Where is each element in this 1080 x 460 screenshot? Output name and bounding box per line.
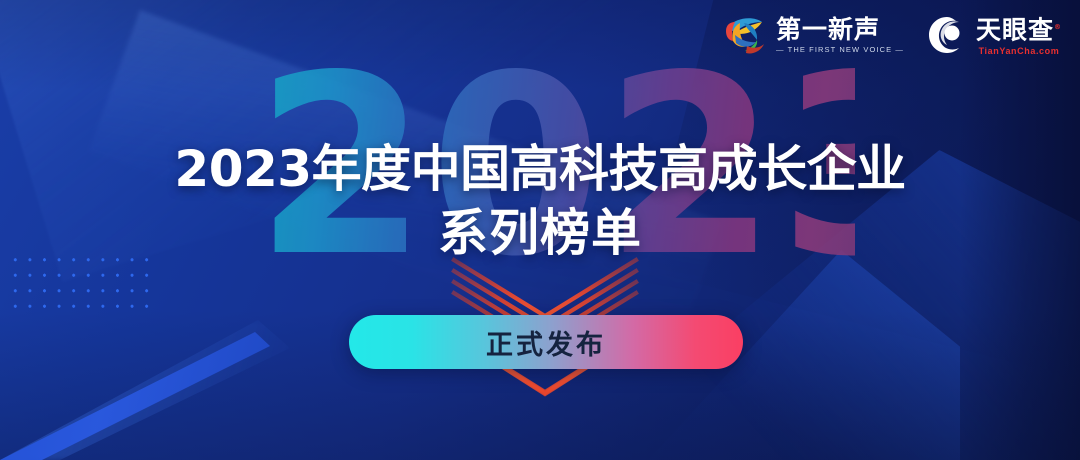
trademark-icon: ®: [1054, 23, 1062, 31]
logo-diyixinsheng-tagline: — THE FIRST NEW VOICE —: [776, 44, 904, 55]
eye-lens-logo-icon: [926, 14, 968, 56]
logo-tianyancha-tagline: TianYanCha.com: [976, 45, 1062, 57]
logo-tianyancha-name: 天眼查®: [976, 13, 1062, 44]
official-release-button[interactable]: 正式发布: [349, 315, 743, 369]
logo-bar: 第一新声 — THE FIRST NEW VOICE — 天眼查® TianYa…: [722, 13, 1062, 57]
headline-line-2: 系列榜单: [0, 202, 1080, 264]
headline-line-1: 2023年度中国高科技高成长企业: [0, 138, 1080, 200]
logo-tianyancha-text: 天眼查® TianYanCha.com: [976, 13, 1062, 56]
promo-banner: 2023: [0, 0, 1080, 460]
logo-tianyancha[interactable]: 天眼查® TianYanCha.com: [926, 13, 1062, 56]
bottom-left-triangle: [0, 332, 270, 460]
cta-container: 正式发布: [349, 315, 743, 369]
bottom-left-triangle-glow: [0, 320, 290, 460]
logo-tianyancha-name-text: 天眼查: [976, 16, 1054, 45]
logo-diyixinsheng[interactable]: 第一新声 — THE FIRST NEW VOICE —: [722, 13, 904, 57]
banner-headline: 2023年度中国高科技高成长企业 系列榜单: [0, 138, 1080, 264]
logo-diyixinsheng-text: 第一新声 — THE FIRST NEW VOICE —: [776, 16, 904, 55]
swirl-ribbon-logo-icon: [722, 13, 768, 57]
logo-diyixinsheng-name: 第一新声: [776, 16, 904, 44]
